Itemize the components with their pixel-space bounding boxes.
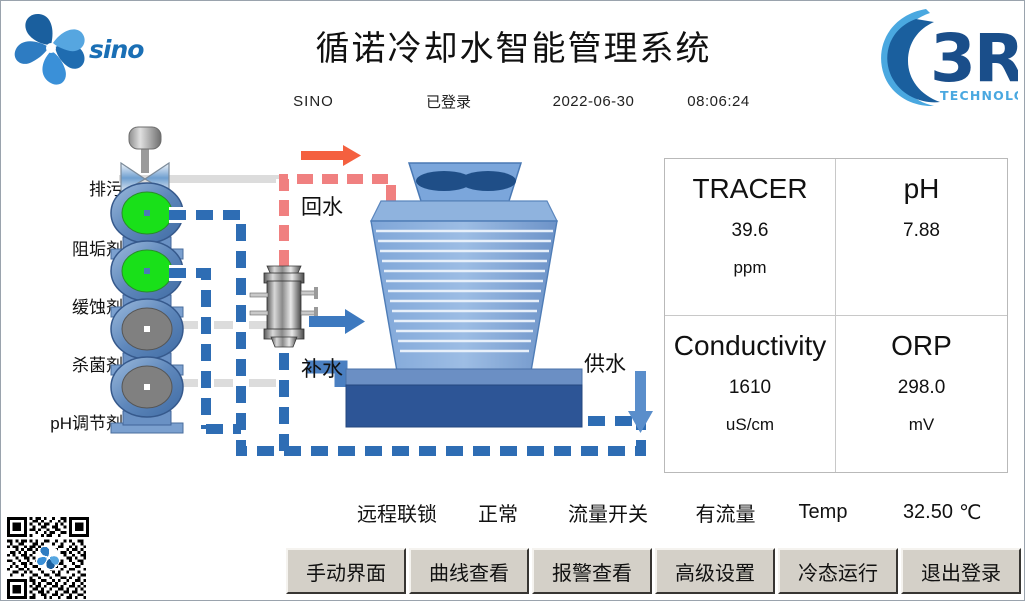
measurement-panel: TRACER 39.6 ppm pH 7.88 Conductivity 161… xyxy=(664,158,1008,473)
measure-orp[interactable]: ORP 298.0 mV xyxy=(836,316,1007,473)
flow-switch-label: 流量开关 xyxy=(543,498,673,527)
remote-interlock-label: 远程联锁 xyxy=(341,498,453,527)
basin-rim xyxy=(346,369,582,387)
measure-tracer[interactable]: TRACER 39.6 ppm xyxy=(665,159,836,316)
temperature-value: 32.50 xyxy=(868,501,953,524)
system-date: 2022-06-30 xyxy=(524,93,664,110)
system-time: 08:06:24 xyxy=(664,93,774,110)
measure-conductivity-value: 1610 xyxy=(729,377,771,399)
alarm-view-button[interactable]: 报警查看 xyxy=(532,548,652,594)
label-return-water: 回水 xyxy=(301,196,343,219)
qr-code[interactable] xyxy=(7,517,89,599)
login-status: 已登录 xyxy=(374,91,524,112)
measure-tracer-value: 39.6 xyxy=(732,220,769,242)
pump-ph-adjuster[interactable] xyxy=(111,357,183,433)
logo-subtitle: TECHNOLOGY xyxy=(940,88,1018,103)
flow-switch-status: 有流量 xyxy=(673,498,778,527)
measure-orp-unit: mV xyxy=(909,415,935,435)
measure-conductivity[interactable]: Conductivity 1610 uS/cm xyxy=(665,316,836,473)
cold-start-button[interactable]: 冷态运行 xyxy=(778,548,898,594)
label-supply-water: 供水 xyxy=(584,353,626,376)
measure-tracer-name: TRACER xyxy=(692,171,807,206)
measure-orp-value: 298.0 xyxy=(898,377,946,399)
heat-exchanger[interactable] xyxy=(250,266,318,347)
header: sino 循诺冷却水智能管理系统 SINO 已登录 2022-06-30 08:… xyxy=(1,1,1025,121)
label-makeup-water: 补水 xyxy=(301,358,343,381)
return-water-arrow xyxy=(301,145,361,166)
advanced-settings-button[interactable]: 高级设置 xyxy=(655,548,775,594)
manual-interface-button[interactable]: 手动界面 xyxy=(286,548,406,594)
remote-interlock-status: 正常 xyxy=(453,498,543,527)
measure-ph[interactable]: pH 7.88 xyxy=(836,159,1007,316)
measure-ph-value: 7.88 xyxy=(903,220,940,242)
logout-button[interactable]: 退出登录 xyxy=(901,548,1021,594)
3r-technology-logo: 3R TECHNOLOGY xyxy=(868,3,1018,111)
button-bar: 手动界面 曲线查看 报警查看 高级设置 冷态运行 退出登录 xyxy=(286,548,1021,594)
cooling-tower[interactable] xyxy=(346,163,582,427)
measure-ph-name: pH xyxy=(904,171,940,206)
measure-conductivity-unit: uS/cm xyxy=(726,415,774,435)
process-diagram: 回水 补水 供水 xyxy=(1,121,661,481)
temperature-unit: ℃ xyxy=(953,500,993,525)
status-bar: 远程联锁 正常 流量开关 有流量 Temp 32.50 ℃ xyxy=(341,496,1021,528)
measure-tracer-unit: ppm xyxy=(733,258,766,278)
measure-orp-name: ORP xyxy=(891,328,952,363)
trend-view-button[interactable]: 曲线查看 xyxy=(409,548,529,594)
basin-body xyxy=(346,385,582,427)
temperature-label: Temp xyxy=(778,501,868,524)
measure-conductivity-name: Conductivity xyxy=(674,328,827,363)
hmi-screen: sino 循诺冷却水智能管理系统 SINO 已登录 2022-06-30 08:… xyxy=(0,0,1025,601)
logged-in-user: SINO xyxy=(254,93,374,110)
svg-text:3R: 3R xyxy=(930,20,1018,97)
